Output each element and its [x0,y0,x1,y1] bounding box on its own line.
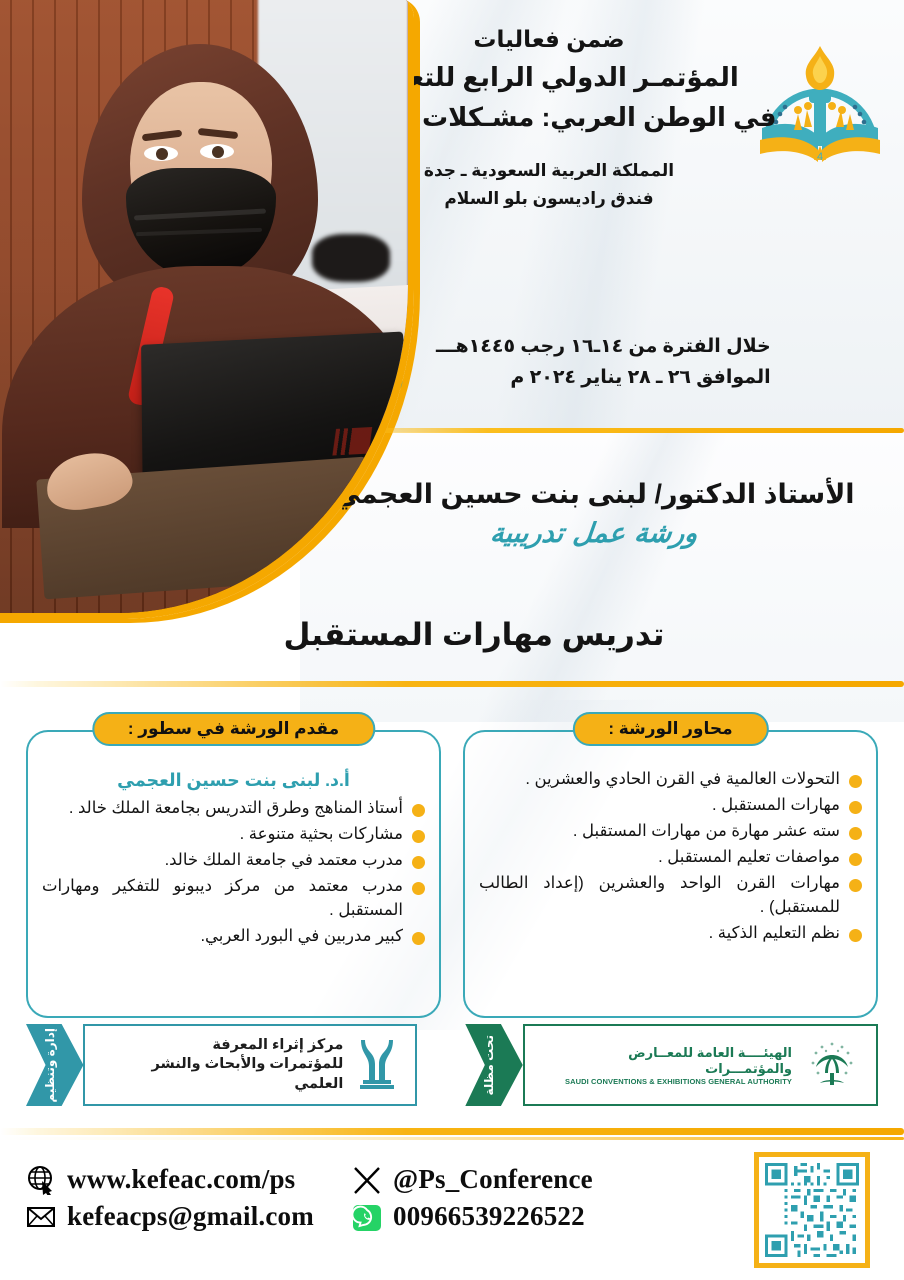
svg-text:4: 4 [817,151,823,163]
list-item: التحولات العالمية في القرن الحادي والعشر… [479,768,862,792]
list-item: أستاذ المناهج وطرق التدريس بجامعة الملك … [42,797,425,821]
list-item: مهارات القرن الواحد والعشرين (إعداد الطا… [479,872,862,920]
person-figure [64,36,364,516]
divider-line-bottom [0,1128,904,1135]
divider-line-bottom-thin [0,1137,904,1140]
globe-cursor-icon [26,1165,56,1195]
panel-presenter: مقدم الورشة في سطور : أ.د. لبنى بنت حسين… [26,730,441,1018]
footer-whatsapp[interactable]: 00966539226522 [393,1201,585,1232]
sponsors-row: إدارة وتنظيم مركز إثراء المعرفة للمؤتمرا… [26,1022,878,1108]
panel-topics-heading: محاور الورشة : [572,712,768,746]
date-hijri: خلال الفترة من ١٤ـ١٦ رجب ١٤٤٥هـــ [436,331,771,362]
list-item: مهارات المستقبل . [479,794,862,818]
topics-list: التحولات العالمية في القرن الحادي والعشر… [479,768,862,945]
workshop-title: تدريس مهارات المستقبل [204,617,744,653]
sponsor-tab-label: إدارة وتنظيم [43,1028,57,1103]
sponsor-name-arabic: الهيئــــة العامة للمعــارض والمؤتمـــرا… [541,1045,792,1077]
list-item: نظم التعليم الذكية . [479,922,862,946]
x-twitter-icon [352,1165,382,1195]
saudi-palm-icon [804,1035,860,1096]
sponsor-name-line2: للمؤتمرات والأبحاث والنشر العلمي [101,1055,343,1094]
panel-topics: محاور الورشة : التحولات العالمية في القر… [463,730,878,1018]
footer-email[interactable]: kefeacps@gmail.com [67,1201,314,1232]
list-item: مدرب معتمد في جامعة الملك خالد. [42,849,425,873]
sponsor-saudi-authority: تحت مظلة الهيئــــة العامة للمعــارض وال… [465,1024,878,1106]
footer-contact-column-right: @Ps_Conference 00966539226522 [352,1164,593,1232]
date-gregorian: الموافق ٢٦ ـ ٢٨ يناير ٢٠٢٤ م [436,362,771,393]
sponsor-name-english: SAUDI CONVENTIONS & EXHIBITIONS GENERAL … [541,1077,792,1086]
envelope-icon [26,1202,56,1232]
laptop-brand-logo [332,427,372,456]
footer-twitter[interactable]: @Ps_Conference [393,1164,593,1195]
divider-line-middle [0,681,904,687]
list-item: سته عشر مهارة من مهارات المستقبل . [479,820,862,844]
sponsor-knowledge-center: إدارة وتنظيم مركز إثراء المعرفة للمؤتمرا… [26,1024,417,1106]
knowledge-center-pillar-icon [355,1036,399,1095]
photo-image [0,0,408,613]
sponsor-box: مركز إثراء المعرفة للمؤتمرات والأبحاث وا… [83,1024,417,1106]
footer-email-row[interactable]: kefeacps@gmail.com [26,1201,314,1232]
footer-contact-column-left: www.kefeac.com/ps kefeacps@gmail.com [26,1164,314,1232]
list-item: كبير مدربين في البورد العربي. [42,925,425,949]
footer-twitter-row[interactable]: @Ps_Conference [352,1164,593,1195]
eye-left [144,146,178,161]
presenter-name: أ.د. لبنى بنت حسين العجمي [42,770,425,791]
sponsor-tab-umbrella: تحت مظلة [465,1024,522,1106]
sponsor-tab-label: تحت مظلة [482,1035,496,1096]
footer-website-row[interactable]: www.kefeac.com/ps [26,1164,314,1195]
info-panels: محاور الورشة : التحولات العالمية في القر… [26,730,878,1018]
list-item: مدرب معتمد من مركز ديبونو للتفكير ومهارا… [42,875,425,923]
presenter-bio-list: أستاذ المناهج وطرق التدريس بجامعة الملك … [42,797,425,949]
sponsor-box: الهيئــــة العامة للمعــارض والمؤتمـــرا… [523,1024,878,1106]
footer-website[interactable]: www.kefeac.com/ps [67,1164,295,1195]
footer-whatsapp-row[interactable]: 00966539226522 [352,1201,593,1232]
sponsor-name-line1: مركز إثراء المعرفة [101,1036,343,1056]
qr-code[interactable] [754,1152,870,1268]
poster-root: 4 ضمن فعاليات المؤتمـر الدولي الرابع للت… [0,0,904,1280]
list-item: مشاركات بحثية متنوعة . [42,823,425,847]
panel-presenter-heading: مقدم الورشة في سطور : [92,712,375,746]
whatsapp-icon [352,1202,382,1232]
speaker-photo [0,0,414,619]
eye-right [200,144,234,159]
sponsor-tab-organizer: إدارة وتنظيم [26,1024,83,1106]
list-item: مواصفات تعليم المستقبل . [479,846,862,870]
